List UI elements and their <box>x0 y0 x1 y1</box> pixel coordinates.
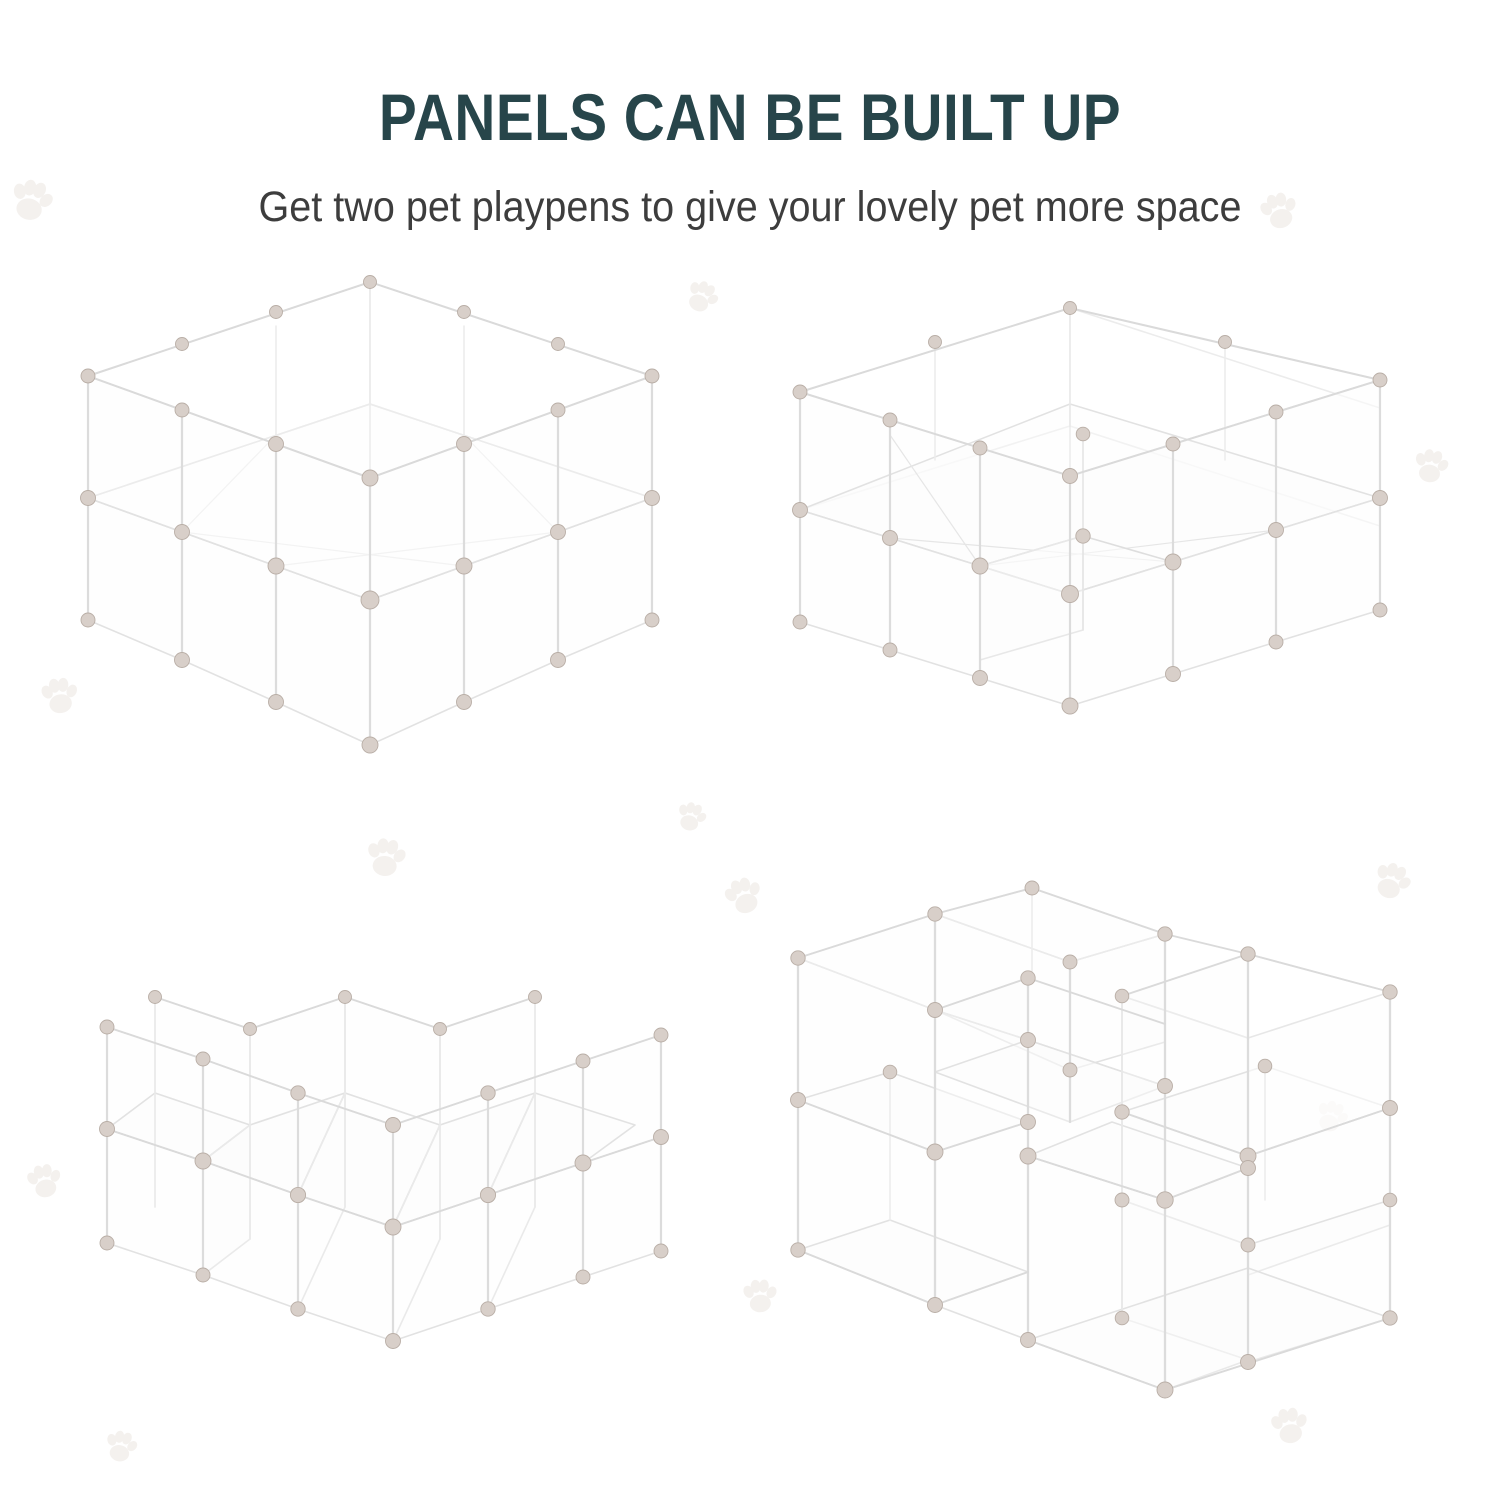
playpen-two-level-wide-rectangular <box>770 330 1410 730</box>
page-subheadline: Get two pet playpens to give your lovely… <box>60 180 1440 234</box>
playpen-zigzag-v-shaped <box>95 975 675 1405</box>
page-headline: PANELS CAN BE BUILT UP <box>105 78 1395 156</box>
product-feature-page: PANELS CAN BE BUILT UP Get two pet playp… <box>0 0 1500 1500</box>
playpen-two-level-square <box>70 320 670 750</box>
playpen-staggered-multi-level <box>770 900 1420 1410</box>
